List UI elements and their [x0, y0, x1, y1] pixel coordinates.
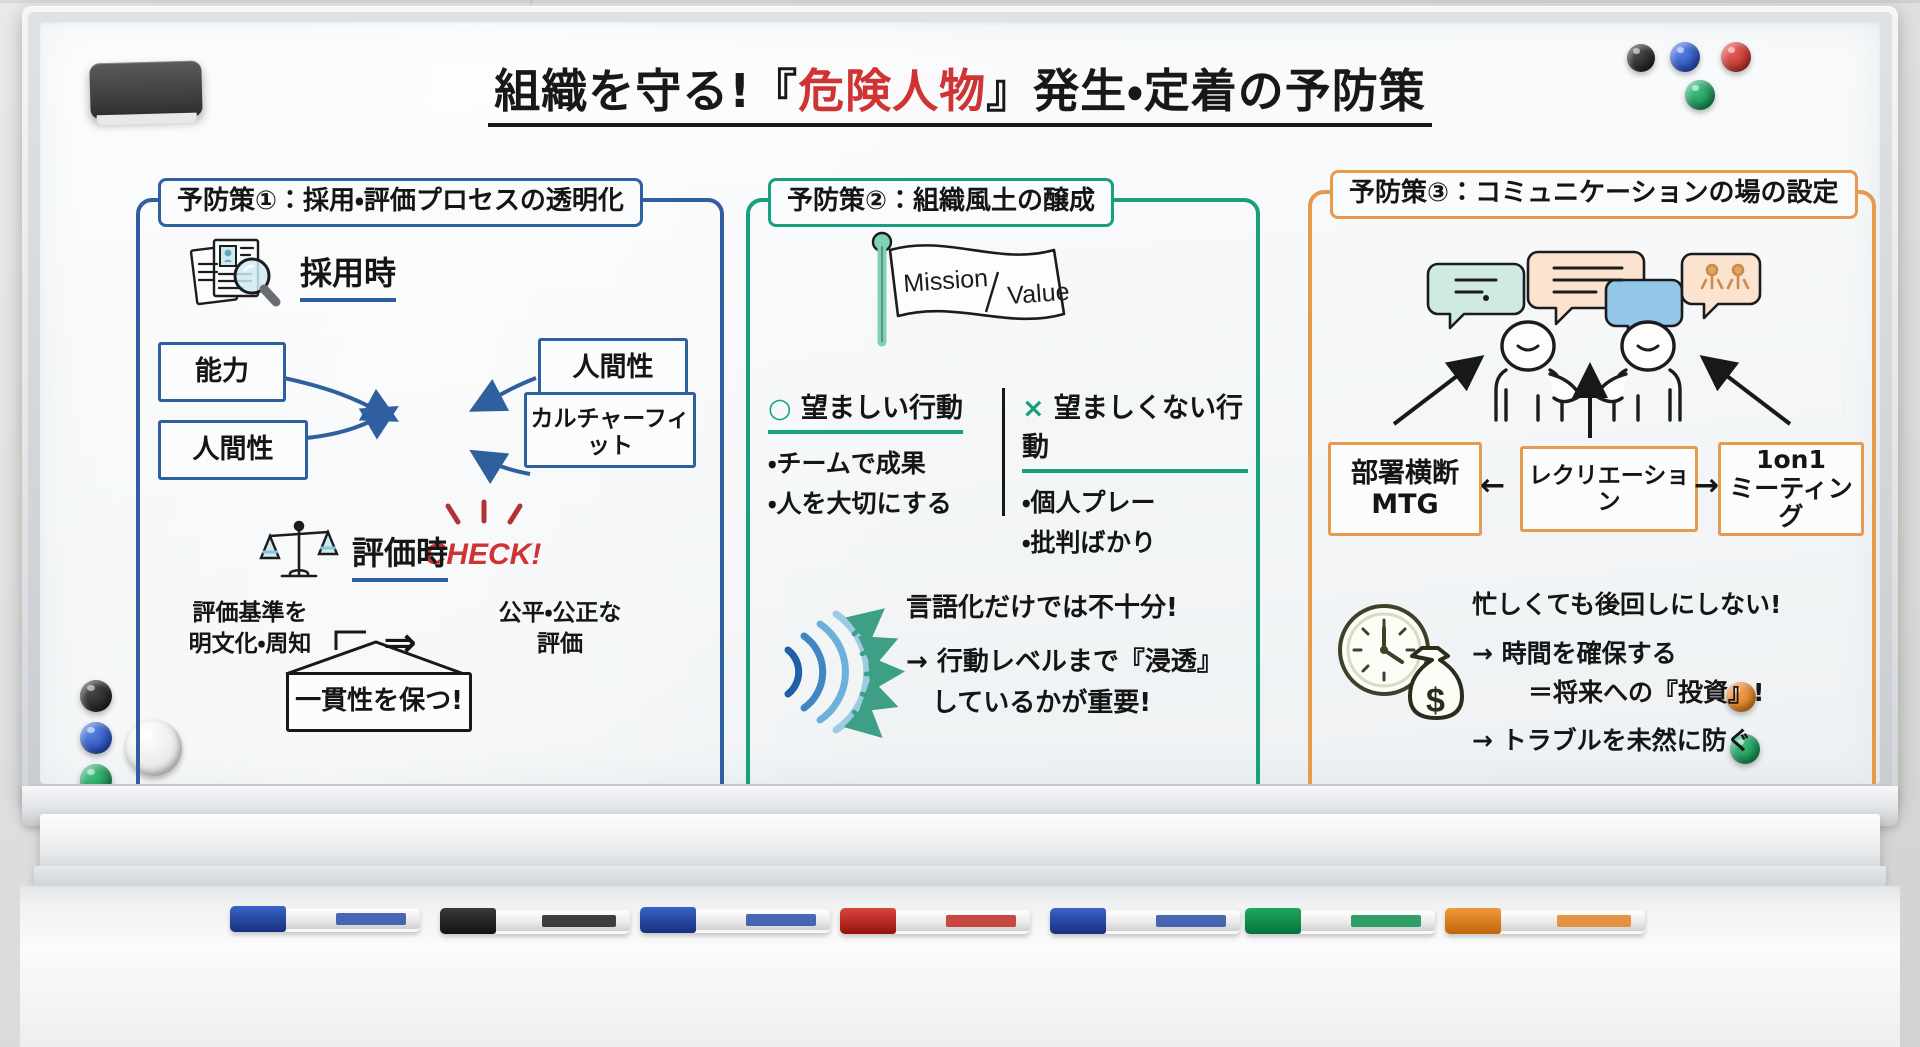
panel-prevention-3: 予防策③：コミュニケーションの場の設定: [1308, 190, 1876, 784]
eval-arrow: ⇒: [360, 616, 440, 670]
mission-value-flag-icon: Mission Value: [868, 230, 1128, 346]
arrow-right-glyph: →: [1694, 468, 1719, 503]
column-divider: [1002, 388, 1005, 516]
eval-from-text: 評価基準を 明文化・周知: [150, 598, 350, 660]
wall-seam: [0, 0, 1920, 3]
two-people-talking-icon: [1420, 246, 1770, 426]
box-recreation[interactable]: レクリエーション: [1520, 446, 1698, 532]
clock-moneybag-icon: $: [1326, 594, 1476, 738]
panel-3-note: 忙しくても後回しにしない! → 時間を確保する ＝将来への『投資』! → トラブ…: [1472, 586, 1872, 761]
list-item: ・人を大切にする: [768, 484, 984, 524]
note-line: ＝将来への『投資』!: [1528, 674, 1872, 713]
column-desirable: ○ 望ましい行動 ・チームで成果 ・人を大切にする: [768, 386, 984, 524]
marker-blue[interactable]: [230, 906, 420, 932]
whiteboard-lower-tray: [20, 886, 1900, 1047]
resume-magnifier-icon: [190, 234, 286, 316]
balance-scale-icon: [260, 518, 338, 592]
panel-prevention-2: 予防策②：組織風土の醸成 Mission Value ○ 望ましい行動: [746, 198, 1260, 784]
panel-1-title: 予防策①：採用・評価プロセスの透明化: [158, 178, 643, 227]
note-line: 忙しくても後回しにしない!: [1472, 586, 1872, 625]
panel-2-note: 言語化だけでは不十分! → 行動レベルまで『浸透』 しているかが重要!: [906, 588, 1256, 723]
panel-2-title: 予防策②：組織風土の醸成: [768, 178, 1114, 227]
section-evaluation-header: 評価時: [260, 518, 448, 592]
box-cross-department-mtg[interactable]: 部署横断 MTG: [1328, 442, 1482, 536]
marker-red[interactable]: [840, 908, 1030, 934]
eval-to-value: 公平・公正な 評価: [499, 600, 622, 657]
column-undesirable-header: × 望ましくない行動: [1022, 386, 1248, 473]
box-1on1-meeting[interactable]: 1on1 ミーティング: [1718, 442, 1864, 536]
column-desirable-label: 望ましい行動: [801, 393, 963, 424]
magnet-green[interactable]: [80, 764, 112, 784]
column-desirable-header: ○ 望ましい行動: [768, 386, 984, 434]
marker-blue[interactable]: [1050, 908, 1240, 934]
column-undesirable: × 望ましくない行動 ・個人プレー ・批判ばかり: [1022, 386, 1248, 563]
magnet-blue[interactable]: [80, 722, 112, 754]
list-item: ・チームで成果: [768, 444, 984, 484]
whiteboard-surface: 組織を守る!『危険人物』発生・定着の予防策 予防策①：採用・評価プロセスの透明化: [40, 22, 1880, 784]
note-line: → 時間を確保する: [1472, 635, 1872, 674]
note-line: しているかが重要!: [932, 683, 1256, 723]
whiteboard-shelf: [40, 814, 1880, 872]
section-evaluation-label: 評価時: [352, 528, 448, 582]
panel-3-title: 予防策③：コミュニケーションの場の設定: [1330, 170, 1858, 219]
box-humanity-left[interactable]: 人間性: [158, 420, 308, 480]
svg-text:Value: Value: [1006, 278, 1070, 310]
marker-orange[interactable]: [1445, 908, 1645, 934]
column-undesirable-label: 望ましくない行動: [1022, 393, 1243, 463]
svg-text:Mission: Mission: [902, 264, 988, 298]
section-hiring-header: 採用時: [190, 234, 396, 316]
circle-mark-icon: ○: [768, 393, 792, 424]
box-ability[interactable]: 能力: [158, 342, 286, 402]
marker-black[interactable]: [440, 908, 630, 934]
note-line: 言語化だけでは不十分!: [906, 588, 1256, 628]
title-part-after: 』発生・定着の予防策: [986, 64, 1426, 118]
svg-text:$: $: [1426, 682, 1445, 720]
note-line: → 行動レベルまで『浸透』: [906, 642, 1256, 682]
callout-consistency[interactable]: 一貫性を保つ!: [286, 672, 472, 732]
marker-blue[interactable]: [640, 907, 830, 933]
panel-prevention-1: 予防策①：採用・評価プロセスの透明化: [136, 198, 724, 784]
title-highlight: 危険人物: [798, 64, 986, 118]
section-hiring-label: 採用時: [300, 248, 396, 302]
whiteboard-shelf-lip: [34, 866, 1886, 888]
eval-to-text: 公平・公正な 評価: [460, 598, 660, 660]
list-item: ・批判ばかり: [1022, 523, 1248, 563]
broadcast-waves-icon: [762, 592, 912, 746]
column-undesirable-items: ・個人プレー ・批判ばかり: [1022, 483, 1248, 563]
list-item: ・個人プレー: [1022, 483, 1248, 523]
arrow-left-glyph: ←: [1480, 468, 1505, 503]
column-desirable-items: ・チームで成果 ・人を大切にする: [768, 444, 984, 524]
note-line: → トラブルを未然に防ぐ: [1472, 722, 1872, 761]
magnet-black[interactable]: [80, 680, 112, 712]
box-culture-fit[interactable]: カルチャーフィット: [524, 392, 696, 468]
cross-mark-icon: ×: [1022, 393, 1045, 424]
title-part-before: 組織を守る!『: [494, 64, 798, 118]
marker-green[interactable]: [1245, 908, 1435, 934]
eval-from-value: 評価基準を 明文化・周知: [189, 600, 312, 657]
box-humanity-right[interactable]: 人間性: [538, 338, 688, 398]
board-title: 組織を守る!『危険人物』発生・定着の予防策: [40, 66, 1880, 127]
